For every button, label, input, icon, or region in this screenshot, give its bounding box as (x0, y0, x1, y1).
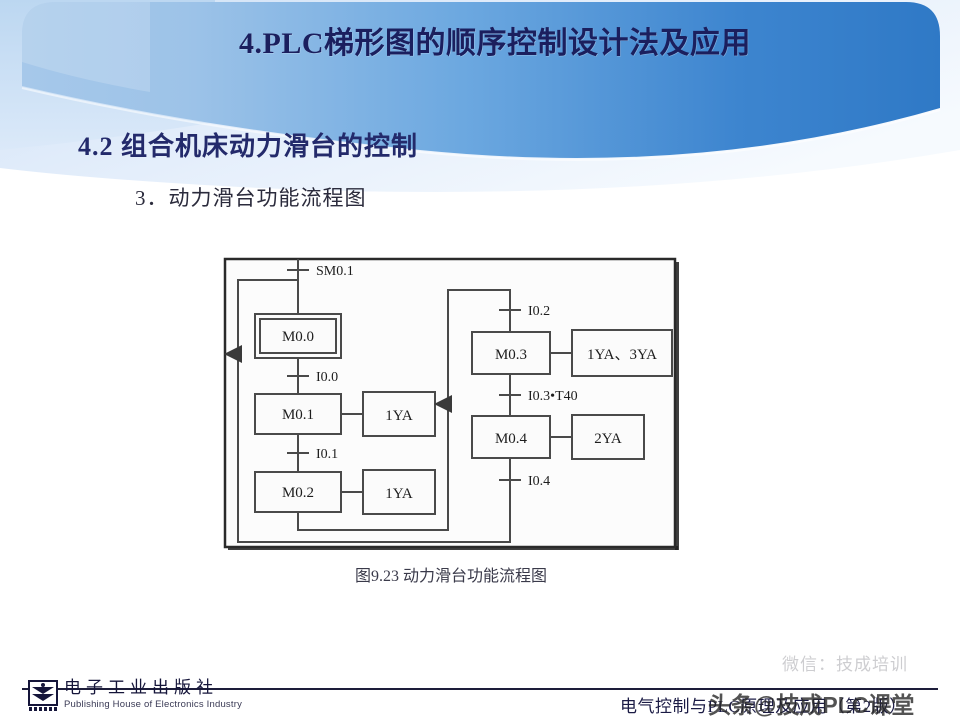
transition-label-i00: I0.0 (316, 370, 338, 385)
subsection-title: 3．动力滑台功能流程图 (135, 182, 367, 212)
page-title: 4.PLC梯形图的顺序控制设计法及应用 (0, 18, 960, 62)
transition-label-sm01: SM0.1 (316, 264, 354, 279)
transition-label-i04: I0.4 (528, 474, 550, 489)
section-title: 4.2 组合机床动力滑台的控制 (78, 126, 418, 163)
publisher-logo: 电子工业出版社 Publishing House of Electronics … (28, 678, 242, 710)
step-box-m01: M0.1 (282, 407, 314, 423)
figure-caption: 图9.23 动力滑台功能流程图 (220, 562, 682, 586)
action-box-m02: 1YA (385, 486, 413, 502)
watermark-secondary: 微信：技成培训 (782, 650, 908, 675)
transition-label-i01: I0.1 (316, 447, 338, 462)
step-box-m04: M0.4 (495, 431, 528, 447)
step-box-m02: M0.2 (282, 485, 314, 501)
action-box-m01: 1YA (385, 408, 413, 424)
transition-label-i02: I0.2 (528, 304, 550, 319)
step-box-m03: M0.3 (495, 347, 527, 363)
action-box-m03: 1YA、3YA (587, 347, 657, 363)
step-box-m00: M0.0 (282, 329, 314, 345)
sfc-diagram-svg: SM0.1 I0.0 I0.1 I0.2 I0.3•T40 I0.4 M0.0 … (220, 254, 682, 552)
function-chart-figure: SM0.1 I0.0 I0.1 I0.2 I0.3•T40 I0.4 M0.0 … (220, 254, 682, 552)
publisher-name-en: Publishing House of Electronics Industry (64, 699, 242, 710)
publisher-name-cn: 电子工业出版社 (64, 678, 242, 698)
action-box-m04: 2YA (594, 431, 622, 447)
publisher-mark-icon (28, 680, 58, 710)
slide-canvas: 4.PLC梯形图的顺序控制设计法及应用 4.2 组合机床动力滑台的控制 3．动力… (0, 0, 960, 720)
watermark-primary: 头条@技成PLC课堂 (708, 686, 914, 720)
transition-label-i03t40: I0.3•T40 (528, 389, 578, 404)
